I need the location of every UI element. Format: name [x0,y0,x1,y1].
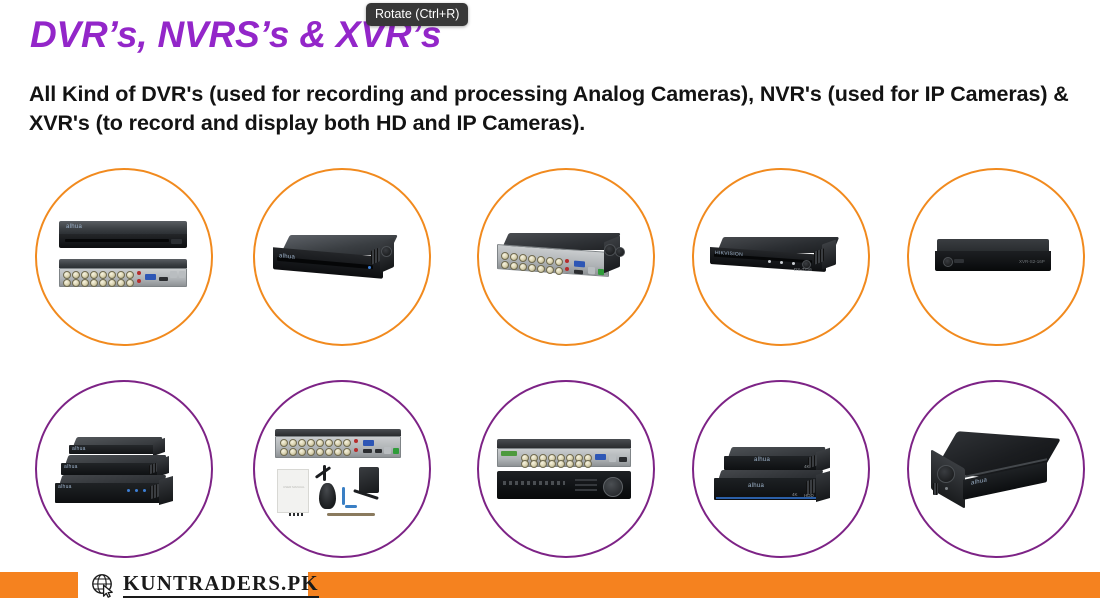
product-circle-hikvision-turbo-dvr-angled[interactable]: HIKVISION DS-7216 [692,168,870,346]
product-circle-slim-black-dvr-front[interactable]: XVR-S2-16P [907,168,1085,346]
device-illustration: alhua alhua alhua [49,409,199,529]
page-description: All Kind of DVR's (used for recording an… [29,80,1097,137]
product-circle-compact-dvr-angled[interactable]: alhua [253,168,431,346]
brand-name: KUNTRADERS.PK [123,572,319,597]
rotate-tooltip: Rotate (Ctrl+R) [366,3,468,26]
product-circle-xvr-angled-top-view[interactable]: alhua [907,380,1085,558]
product-circle-dvr-kit-with-accessories[interactable]: USER MANUAL [253,380,431,558]
device-illustration: alhua [49,197,199,317]
footer-bar-right [308,572,1100,598]
product-circle-rack-dvr-rear-bnc-panel[interactable] [477,168,655,346]
device-illustration: XVR-S2-16P [921,197,1071,317]
device-illustration: HIKVISION DS-7216 [706,197,856,317]
globe-cursor-icon [90,572,116,598]
product-circle-dual-stacked-nvr[interactable]: alhua 4K alhua 4K HDD [692,380,870,558]
device-illustration [491,197,641,317]
footer-bar-left [0,572,78,598]
device-illustration: USER MANUAL [267,409,417,529]
device-illustration: alhua [921,409,1071,529]
gallery-row-1: alhua [0,160,1100,372]
device-illustration: alhua [267,197,417,317]
product-gallery: alhua [0,160,1100,584]
product-circle-nvr-front-and-rear-pair[interactable]: alhua [35,168,213,346]
device-illustration: alhua 4K alhua 4K HDD [706,409,856,529]
footer: KUNTRADERS.PK [0,572,1100,598]
device-illustration [491,409,641,529]
product-circle-stacked-nvr-trio[interactable]: alhua alhua alhua [35,380,213,558]
gallery-row-2: alhua alhua alhua [0,372,1100,584]
product-circle-rack-dvr-front-and-rear[interactable] [477,380,655,558]
footer-logo[interactable]: KUNTRADERS.PK [90,568,319,602]
